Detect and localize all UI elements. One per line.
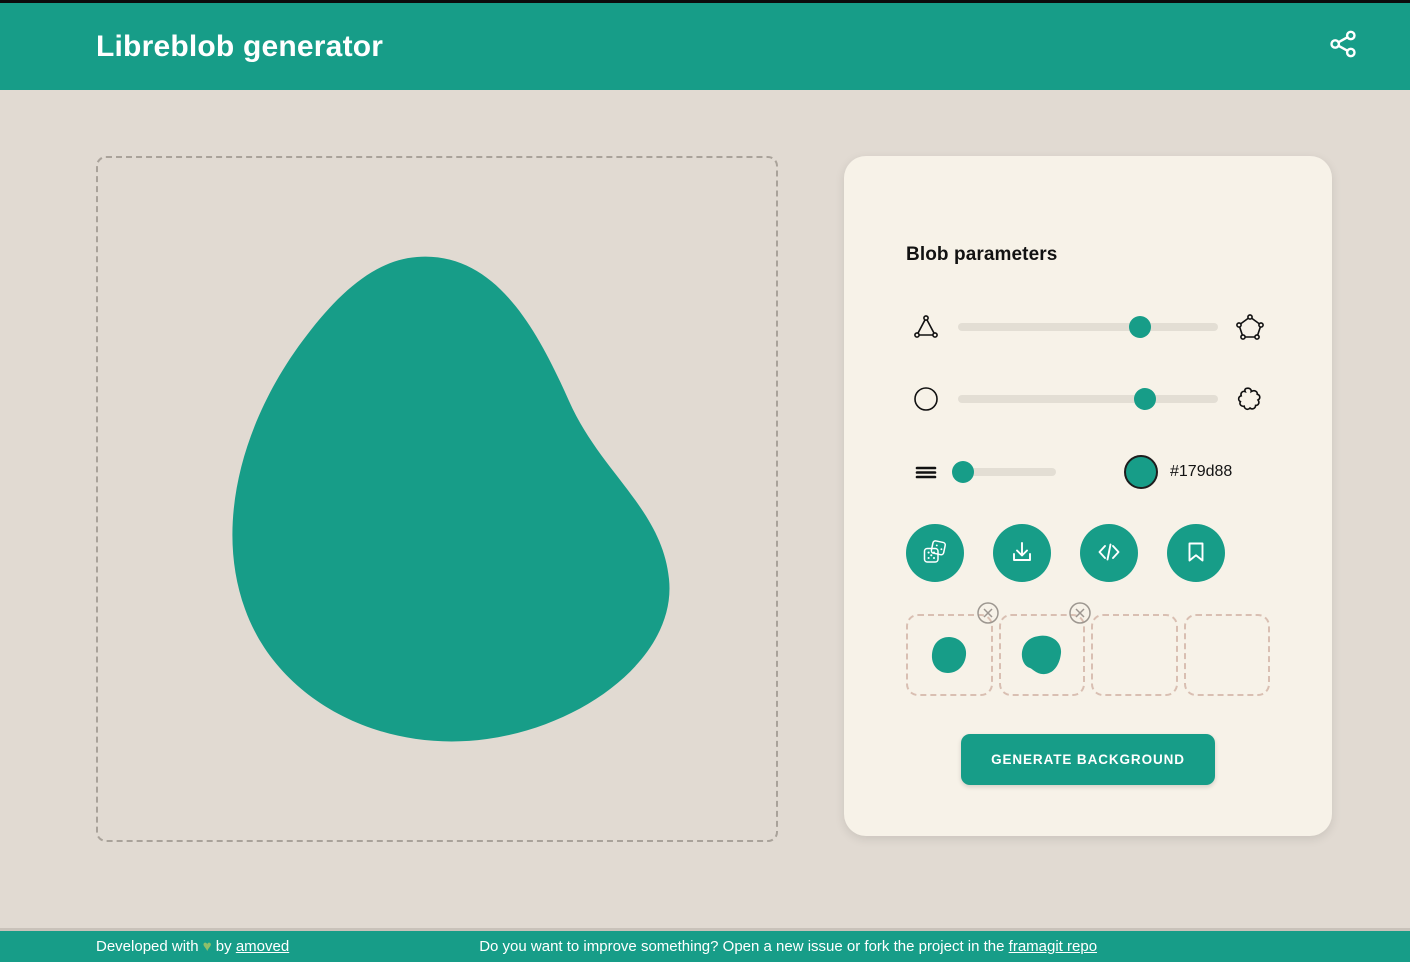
circle-icon bbox=[906, 379, 946, 419]
complexity-slider-thumb[interactable] bbox=[1129, 316, 1151, 338]
randomize-button[interactable] bbox=[906, 524, 964, 582]
contrast-slider-row bbox=[906, 378, 1270, 420]
download-button[interactable] bbox=[993, 524, 1051, 582]
saved-blob-slot-2[interactable] bbox=[999, 614, 1086, 696]
saved-blob-shape bbox=[926, 632, 972, 678]
color-swatch[interactable] bbox=[1124, 455, 1158, 489]
triangle-vertices-icon bbox=[906, 307, 946, 347]
footer-contribute: Do you want to improve something? Open a… bbox=[479, 938, 1097, 955]
blob-canvas[interactable] bbox=[96, 156, 778, 842]
author-link[interactable]: amoved bbox=[236, 938, 289, 955]
dice-icon bbox=[920, 537, 950, 570]
saved-blob-shape bbox=[1017, 632, 1067, 678]
lines-stack-icon bbox=[906, 452, 946, 492]
delete-saved-blob-2-button[interactable] bbox=[1067, 600, 1093, 626]
bookmark-button[interactable] bbox=[1167, 524, 1225, 582]
saved-blobs-row bbox=[906, 614, 1270, 696]
saved-blob-slot-3[interactable] bbox=[1091, 614, 1178, 696]
app-footer: Developed with ♥ by amoved Do you want t… bbox=[0, 928, 1410, 962]
pentagon-vertices-icon bbox=[1230, 307, 1270, 347]
panel-title: Blob parameters bbox=[906, 156, 1270, 266]
contrast-slider-track[interactable] bbox=[958, 395, 1218, 403]
page-title: Libreblob generator bbox=[96, 30, 383, 64]
thickness-color-row: #179d88 bbox=[906, 452, 1270, 492]
footer-contribute-text: Do you want to improve something? Open a… bbox=[479, 938, 1008, 955]
blob-shape-svg bbox=[117, 179, 757, 819]
contrast-slider-thumb[interactable] bbox=[1134, 388, 1156, 410]
thickness-slider-track[interactable] bbox=[958, 468, 1056, 476]
color-hex-value: #179d88 bbox=[1170, 463, 1232, 481]
code-icon bbox=[1094, 537, 1124, 570]
footer-credit: Developed with ♥ by amoved bbox=[96, 938, 289, 955]
color-group: #179d88 bbox=[1124, 455, 1232, 489]
complexity-slider-row bbox=[906, 306, 1270, 348]
saved-blob-slot-1[interactable] bbox=[906, 614, 993, 696]
code-button[interactable] bbox=[1080, 524, 1138, 582]
parameters-panel: Blob parameters bbox=[844, 156, 1332, 836]
share-button[interactable] bbox=[1316, 20, 1370, 74]
blob-wavy-icon bbox=[1230, 379, 1270, 419]
share-nodes-icon bbox=[1326, 27, 1360, 66]
download-icon bbox=[1008, 538, 1036, 569]
footer-credit-prefix: Developed with bbox=[96, 938, 203, 955]
saved-blob-slot-4[interactable] bbox=[1184, 614, 1271, 696]
action-buttons bbox=[906, 524, 1270, 582]
thickness-slider-thumb[interactable] bbox=[952, 461, 974, 483]
heart-icon: ♥ bbox=[203, 938, 212, 955]
main-content: Blob parameters bbox=[0, 90, 1410, 930]
bookmark-icon bbox=[1182, 538, 1210, 569]
complexity-slider-track[interactable] bbox=[958, 323, 1218, 331]
footer-credit-by: by bbox=[212, 938, 236, 955]
generate-row: GENERATE BACKGROUND bbox=[906, 734, 1270, 785]
repo-link[interactable]: framagit repo bbox=[1009, 938, 1097, 955]
delete-saved-blob-1-button[interactable] bbox=[975, 600, 1001, 626]
generate-background-button[interactable]: GENERATE BACKGROUND bbox=[961, 734, 1215, 785]
app-header: Libreblob generator bbox=[0, 0, 1410, 90]
